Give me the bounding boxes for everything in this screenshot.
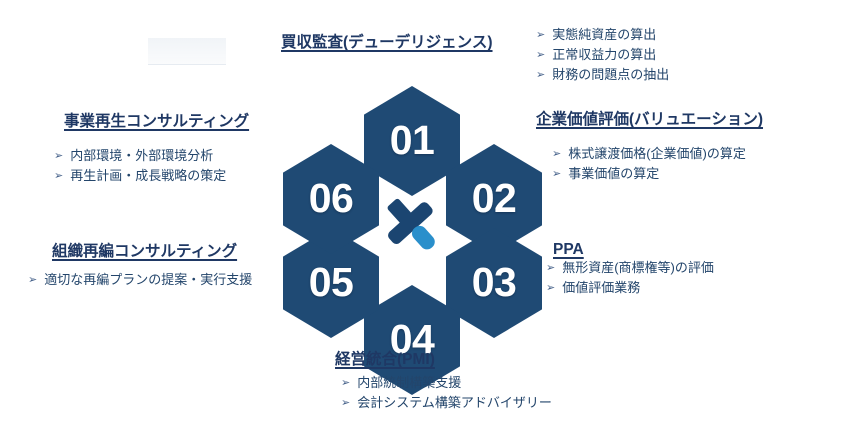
arrow-bullet-icon: ➢: [546, 280, 555, 297]
bullet-text: 実態純資産の算出: [552, 25, 656, 45]
arrow-bullet-icon: ➢: [341, 395, 350, 412]
hexagon-number-05: 05: [309, 262, 354, 303]
section-bullets-01: ➢実態純資産の算出 ➢正常収益力の算出 ➢財務の問題点の抽出: [536, 25, 669, 85]
list-item: ➢価値評価業務: [546, 278, 714, 298]
section-bullets-05: ➢適切な再編プランの提案・実行支援: [28, 270, 252, 290]
infographic-canvas: 01 02 03 04 05 06 買収監査(デューデリジェンス) ➢実態純資産…: [0, 0, 841, 432]
bullet-text: 無形資産(商標権等)の評価: [562, 258, 714, 278]
bullet-text: 価値評価業務: [562, 278, 640, 298]
arrow-bullet-icon: ➢: [546, 260, 555, 277]
list-item: ➢無形資産(商標権等)の評価: [546, 258, 714, 278]
arrow-bullet-icon: ➢: [552, 166, 561, 183]
arrow-bullet-icon: ➢: [341, 375, 350, 392]
bullet-text: 正常収益力の算出: [552, 45, 656, 65]
section-title-04: 経営統合(PMI): [335, 350, 435, 369]
arrow-bullet-icon: ➢: [536, 27, 545, 44]
bullet-list-01: ➢実態純資産の算出 ➢正常収益力の算出 ➢財務の問題点の抽出: [536, 25, 669, 85]
bullet-text: 内部環境・外部環境分析: [70, 146, 213, 166]
company-logo-icon: [372, 185, 452, 265]
arrow-bullet-icon: ➢: [552, 146, 561, 163]
bullet-list-03: ➢無形資産(商標権等)の評価 ➢価値評価業務: [546, 258, 714, 298]
bullet-text: 株式譲渡価格(企業価値)の算定: [568, 144, 746, 164]
section-title-06: 事業再生コンサルティング: [64, 112, 249, 131]
section-bullets-04: ➢内部統制構築支援 ➢会計システム構築アドバイザリー: [341, 373, 552, 413]
list-item: ➢財務の問題点の抽出: [536, 65, 669, 85]
title-text-06: 事業再生コンサルティング: [64, 112, 249, 131]
title-text-04: 経営統合(PMI): [335, 350, 435, 369]
section-title-01: 買収監査(デューデリジェンス): [281, 33, 493, 52]
list-item: ➢事業価値の算定: [552, 164, 746, 184]
section-bullets-06: ➢内部環境・外部環境分析 ➢再生計画・成長戦略の策定: [54, 146, 226, 186]
section-bullets-03: ➢無形資産(商標権等)の評価 ➢価値評価業務: [546, 258, 714, 298]
faint-watermark: [148, 38, 226, 65]
hexagon-number-06: 06: [309, 178, 354, 219]
title-text-02: 企業価値評価(バリュエーション): [536, 110, 763, 129]
list-item: ➢適切な再編プランの提案・実行支援: [28, 270, 252, 290]
title-text-03: PPA: [553, 240, 584, 259]
list-item: ➢内部統制構築支援: [341, 373, 552, 393]
bullet-text: 会計システム構築アドバイザリー: [357, 393, 552, 413]
arrow-bullet-icon: ➢: [54, 168, 63, 185]
hexagon-03[interactable]: 03: [446, 228, 542, 338]
arrow-bullet-icon: ➢: [536, 47, 545, 64]
list-item: ➢株式譲渡価格(企業価値)の算定: [552, 144, 746, 164]
bullet-text: 財務の問題点の抽出: [552, 65, 669, 85]
section-title-05: 組織再編コンサルティング: [52, 242, 237, 261]
hexagon-number-03: 03: [472, 262, 517, 303]
list-item: ➢会計システム構築アドバイザリー: [341, 393, 552, 413]
section-title-03: PPA: [553, 240, 584, 259]
bullet-text: 再生計画・成長戦略の策定: [70, 166, 226, 186]
arrow-bullet-icon: ➢: [54, 148, 63, 165]
bullet-text: 適切な再編プランの提案・実行支援: [44, 270, 252, 290]
bullet-text: 事業価値の算定: [568, 164, 659, 184]
title-text-05: 組織再編コンサルティング: [52, 242, 237, 261]
bullet-list-04: ➢内部統制構築支援 ➢会計システム構築アドバイザリー: [341, 373, 552, 413]
list-item: ➢実態純資産の算出: [536, 25, 669, 45]
section-title-02: 企業価値評価(バリュエーション): [536, 110, 763, 129]
list-item: ➢再生計画・成長戦略の策定: [54, 166, 226, 186]
hexagon-number-02: 02: [472, 178, 517, 219]
hexagon-number-01: 01: [390, 120, 435, 161]
arrow-bullet-icon: ➢: [536, 67, 545, 84]
arrow-bullet-icon: ➢: [28, 272, 37, 289]
title-text-01: 買収監査(デューデリジェンス): [281, 33, 493, 52]
bullet-list-05: ➢適切な再編プランの提案・実行支援: [28, 270, 252, 290]
section-bullets-02: ➢株式譲渡価格(企業価値)の算定 ➢事業価値の算定: [552, 144, 746, 184]
bullet-list-06: ➢内部環境・外部環境分析 ➢再生計画・成長戦略の策定: [54, 146, 226, 186]
list-item: ➢内部環境・外部環境分析: [54, 146, 226, 166]
bullet-list-02: ➢株式譲渡価格(企業価値)の算定 ➢事業価値の算定: [552, 144, 746, 184]
list-item: ➢正常収益力の算出: [536, 45, 669, 65]
bullet-text: 内部統制構築支援: [357, 373, 461, 393]
